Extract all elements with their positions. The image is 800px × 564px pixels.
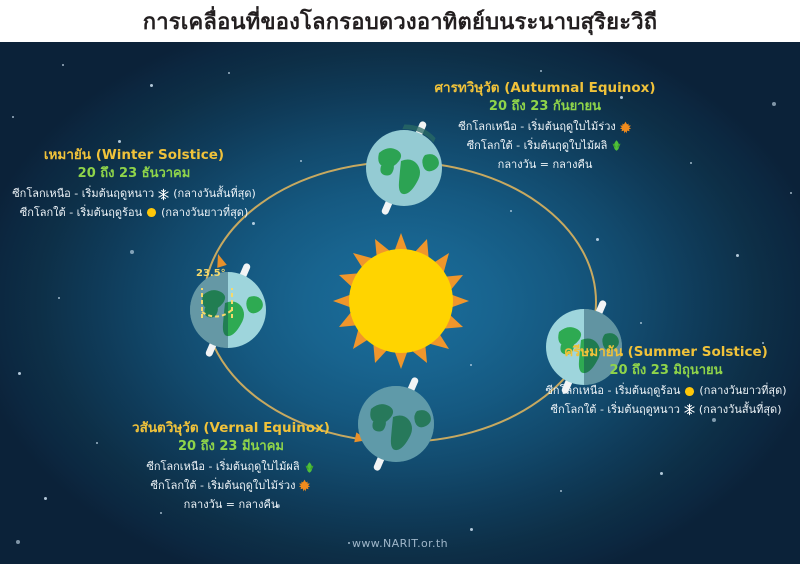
season-line: ซีกโลกเหนือ - เริ่มต้นฤดูหนาว (กลางวันสั… <box>0 187 268 201</box>
season-title: วสันตวิษุวัต (Vernal Equinox) <box>86 420 376 437</box>
season-line-suffix: (กลางวันยาวที่สุด) <box>699 384 786 398</box>
source-url: www.NARIT.or.th <box>0 537 800 550</box>
season-line: ซีกโลกเหนือ - เริ่มต้นฤดูร้อน (กลางวันยา… <box>532 384 800 398</box>
infographic-canvas: การเคลื่อนที่ของโลกรอบดวงอาทิตย์บนระนาบส… <box>0 0 800 564</box>
season-block-winter-solstice: เหมายัน (Winter Solstice) 20 ถึง 23 ธันว… <box>0 147 268 220</box>
season-block-vernal-equinox: วสันตวิษุวัต (Vernal Equinox) 20 ถึง 23 … <box>86 420 376 511</box>
season-line-suffix: (กลางวันยาวที่สุด) <box>161 206 248 220</box>
season-line-text: ซีกโลกใต้ - เริ่มต้นฤดูใบไม้ร่วง <box>151 479 296 493</box>
season-title: ครีษมายัน (Summer Solstice) <box>532 344 800 361</box>
season-block-summer-solstice: ครีษมายัน (Summer Solstice) 20 ถึง 23 มิ… <box>532 344 800 417</box>
axial-tilt-label: 23.5° <box>196 268 226 279</box>
night-sky-background: 23.5° ศารทวิษุวัต (Autumnal Equinox) 20 … <box>0 42 800 564</box>
season-date: 20 ถึง 23 มีนาคม <box>86 439 376 455</box>
green-leaf-icon <box>303 461 316 474</box>
season-title: เหมายัน (Winter Solstice) <box>0 147 268 164</box>
season-line-text: ซีกโลกใต้ - เริ่มต้นฤดูหนาว <box>551 403 680 417</box>
green-leaf-icon <box>610 139 623 152</box>
sun-icon <box>145 206 158 219</box>
season-line-text: ซีกโลกเหนือ - เริ่มต้นฤดูใบไม้ผลิ <box>146 460 299 474</box>
season-line-text: ซีกโลกเหนือ - เริ่มต้นฤดูหนาว <box>12 187 154 201</box>
season-line: ซีกโลกใต้ - เริ่มต้นฤดูร้อน (กลางวันยาวท… <box>0 206 268 220</box>
season-date: 20 ถึง 23 ธันวาคม <box>0 166 268 182</box>
sun-graphic <box>331 231 471 371</box>
season-block-autumnal-equinox: ศารทวิษุวัต (Autumnal Equinox) 20 ถึง 23… <box>400 80 690 171</box>
maple-leaf-icon <box>298 479 311 492</box>
season-title: ศารทวิษุวัต (Autumnal Equinox) <box>400 80 690 97</box>
season-line-text: ซีกโลกเหนือ - เริ่มต้นฤดูใบไม้ร่วง <box>458 120 616 134</box>
season-line: ซีกโลกใต้ - เริ่มต้นฤดูใบไม้ผลิ <box>400 139 690 153</box>
season-line-text: กลางวัน = กลางคืน <box>86 498 376 512</box>
snowflake-icon <box>157 188 170 201</box>
page-title: การเคลื่อนที่ของโลกรอบดวงอาทิตย์บนระนาบส… <box>0 0 800 42</box>
season-line: ซีกโลกเหนือ - เริ่มต้นฤดูใบไม้ผลิ <box>86 460 376 474</box>
season-date: 20 ถึง 23 มิถุนายน <box>532 363 800 379</box>
season-line-text: ซีกโลกใต้ - เริ่มต้นฤดูใบไม้ผลิ <box>467 139 608 153</box>
header-bar: การเคลื่อนที่ของโลกรอบดวงอาทิตย์บนระนาบส… <box>0 0 800 42</box>
season-line: ซีกโลกใต้ - เริ่มต้นฤดูใบไม้ร่วง <box>86 479 376 493</box>
season-line-text: กลางวัน = กลางคืน <box>400 158 690 172</box>
sun-icon <box>683 385 696 398</box>
snowflake-icon <box>683 403 696 416</box>
season-line: ซีกโลกใต้ - เริ่มต้นฤดูหนาว (กลางวันสั้น… <box>532 403 800 417</box>
season-line-text: ซีกโลกใต้ - เริ่มต้นฤดูร้อน <box>20 206 142 220</box>
season-line-suffix: (กลางวันสั้นที่สุด) <box>173 187 256 201</box>
season-date: 20 ถึง 23 กันยายน <box>400 99 690 115</box>
axial-tilt-annotation: 23.5° <box>188 270 278 322</box>
season-line-suffix: (กลางวันสั้นที่สุด) <box>699 403 782 417</box>
season-line-text: ซีกโลกเหนือ - เริ่มต้นฤดูร้อน <box>545 384 680 398</box>
maple-leaf-icon <box>619 121 632 134</box>
season-line: ซีกโลกเหนือ - เริ่มต้นฤดูใบไม้ร่วง <box>400 120 690 134</box>
